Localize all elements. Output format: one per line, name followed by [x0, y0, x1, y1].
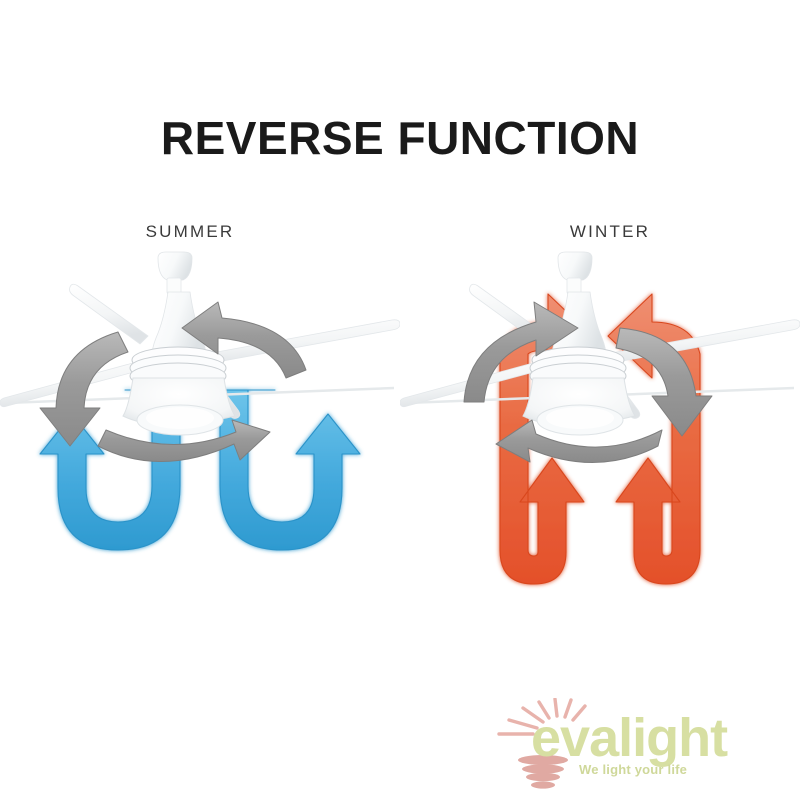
brand-tagline: We light your life — [579, 762, 687, 777]
infographic-canvas: REVERSE FUNCTION SUMMER WINTER — [0, 0, 800, 800]
diagram-summer — [0, 250, 400, 630]
section-label-summer: SUMMER — [60, 222, 320, 242]
brand-wordmark: evalight — [531, 708, 728, 768]
section-label-winter: WINTER — [480, 222, 740, 242]
page-title: REVERSE FUNCTION — [0, 112, 800, 164]
diagram-winter — [400, 250, 800, 630]
brand-logo[interactable]: evalight We light your life — [495, 698, 795, 793]
ceiling-fan-icon-winter — [400, 252, 800, 435]
